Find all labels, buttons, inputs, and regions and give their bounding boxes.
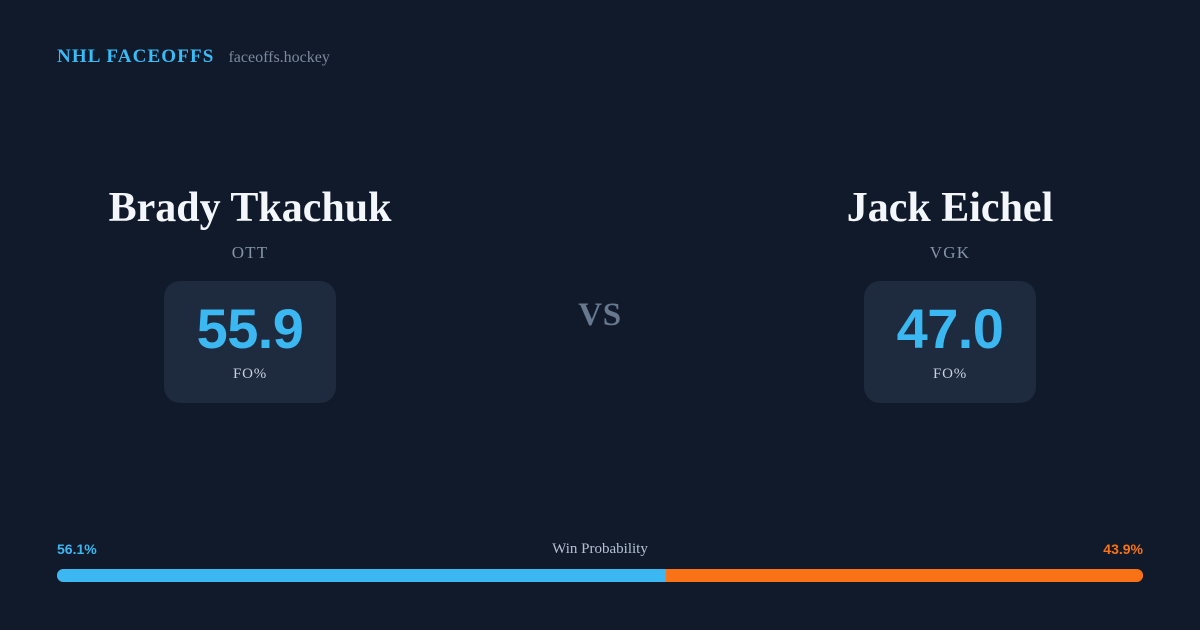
vs-divider: VS — [500, 185, 700, 334]
stat-value-left: 55.9 — [197, 301, 304, 357]
brand-domain: faceoffs.hockey — [228, 49, 329, 67]
player-card-right: Jack Eichel VGK 47.0 FO% — [700, 185, 1200, 403]
brand-title: NHL FACEOFFS — [57, 46, 214, 68]
player-team-right: VGK — [930, 243, 970, 263]
win-probability-title: Win Probability — [552, 541, 648, 558]
win-probability-left-value: 56.1% — [57, 541, 97, 557]
win-probability-bar-right-fill — [666, 569, 1143, 582]
player-name-left: Brady Tkachuk — [109, 185, 392, 231]
stat-card-left: 55.9 FO% — [164, 281, 336, 403]
player-card-left: Brady Tkachuk OTT 55.9 FO% — [0, 185, 500, 403]
win-probability-bar — [57, 569, 1143, 582]
win-probability-right-value: 43.9% — [1103, 541, 1143, 557]
player-team-left: OTT — [232, 243, 269, 263]
stat-value-right: 47.0 — [897, 301, 1004, 357]
vs-label: VS — [578, 297, 622, 334]
stat-label-left: FO% — [233, 366, 267, 383]
stat-card-right: 47.0 FO% — [864, 281, 1036, 403]
player-name-right: Jack Eichel — [847, 185, 1054, 231]
stat-label-right: FO% — [933, 366, 967, 383]
matchup-section: Brady Tkachuk OTT 55.9 FO% VS Jack Eiche… — [0, 185, 1200, 403]
brand-header: NHL FACEOFFS faceoffs.hockey — [57, 46, 330, 68]
win-probability-section: 56.1% Win Probability 43.9% — [57, 541, 1143, 582]
win-probability-labels: 56.1% Win Probability 43.9% — [57, 541, 1143, 561]
win-probability-bar-left-fill — [57, 569, 666, 582]
